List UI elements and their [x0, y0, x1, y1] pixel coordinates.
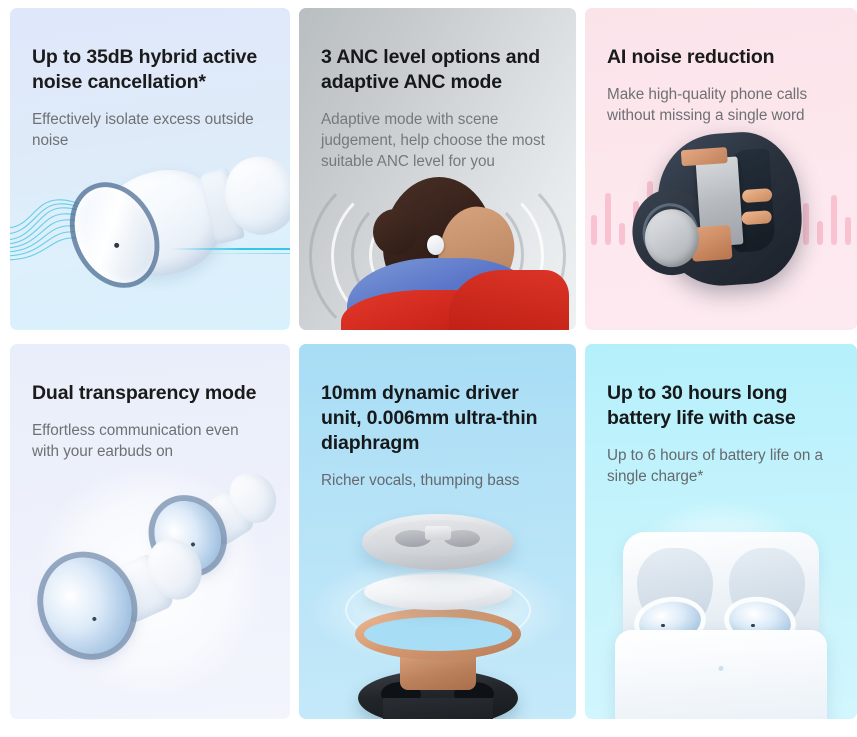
person-hair-bun [373, 209, 417, 255]
open-charging-case-with-earbuds-illustration [585, 488, 857, 719]
earbud-graphic [41, 127, 290, 330]
charging-case-base [615, 630, 827, 719]
earbud-microphone-dot [661, 624, 665, 628]
exploded-driver-unit-illustration [299, 492, 576, 719]
card-text-block: AI noise reduction Make high-quality pho… [585, 8, 857, 127]
card-title: 3 ANC level options and adaptive ANC mod… [321, 45, 554, 95]
driver-cover-hole-center [425, 526, 451, 540]
card-title: Up to 30 hours long battery life with ca… [607, 381, 835, 431]
driver-copper-ring [355, 608, 521, 660]
card-subtitle: Effortless communication even with your … [32, 421, 268, 463]
copper-pin-upper [742, 188, 773, 203]
charging-case-lid [623, 532, 819, 640]
card-subtitle: Up to 6 hours of battery life on a singl… [607, 446, 835, 488]
soundwave-beam-secondary [198, 253, 290, 255]
card-text-block: 10mm dynamic driver unit, 0.006mm ultra-… [299, 344, 576, 492]
photo-scene [299, 173, 576, 330]
charging-indicator-led [719, 666, 724, 671]
card-subtitle: Adaptive mode with scene judgement, help… [321, 110, 554, 173]
card-text-block: Up to 30 hours long battery life with ca… [585, 344, 857, 488]
copper-pin-lower [741, 210, 772, 225]
card-subtitle: Effectively isolate excess outside noise [32, 110, 268, 152]
card-title: Up to 35dB hybrid active noise cancellat… [32, 45, 268, 95]
soundwave-beam [170, 248, 290, 250]
earbud-cutaway-internals-illustration [585, 127, 857, 330]
card-title: 10mm dynamic driver unit, 0.006mm ultra-… [321, 381, 554, 456]
feature-card-ai-noise-reduction[interactable]: AI noise reduction Make high-quality pho… [585, 8, 857, 330]
woman-wearing-earbud-photo-illustration [299, 173, 576, 330]
earbud-cutaway-shell [654, 128, 806, 290]
feature-card-anc-35db[interactable]: Up to 35dB hybrid active noise cancellat… [10, 8, 290, 330]
feature-card-dynamic-driver[interactable]: 10mm dynamic driver unit, 0.006mm ultra-… [299, 344, 576, 719]
copper-contact-top [681, 147, 728, 166]
card-title: AI noise reduction [607, 45, 835, 70]
feature-card-anc-levels[interactable]: 3 ANC level options and adaptive ANC mod… [299, 8, 576, 330]
driver-base-body [383, 698, 493, 719]
driver-diaphragm-inner [384, 580, 492, 602]
two-floating-earbuds-illustration [10, 463, 290, 719]
card-title: Dual transparency mode [32, 381, 268, 406]
card-subtitle: Richer vocals, thumping bass [321, 471, 554, 492]
feature-grid: Up to 35dB hybrid active noise cancellat… [0, 0, 857, 737]
earbud-microphone-dot [751, 624, 755, 628]
card-text-block: Up to 35dB hybrid active noise cancellat… [10, 8, 290, 152]
card-text-block: 3 ANC level options and adaptive ANC mod… [299, 8, 576, 173]
feature-card-dual-transparency[interactable]: Dual transparency mode Effortless commun… [10, 344, 290, 719]
card-subtitle: Make high-quality phone calls without mi… [607, 85, 835, 127]
worn-earbud [427, 235, 444, 255]
earbud-with-soundwave-lines-illustration [10, 152, 290, 330]
feature-card-battery-life[interactable]: Up to 30 hours long battery life with ca… [585, 344, 857, 719]
card-text-block: Dual transparency mode Effortless commun… [10, 344, 290, 463]
